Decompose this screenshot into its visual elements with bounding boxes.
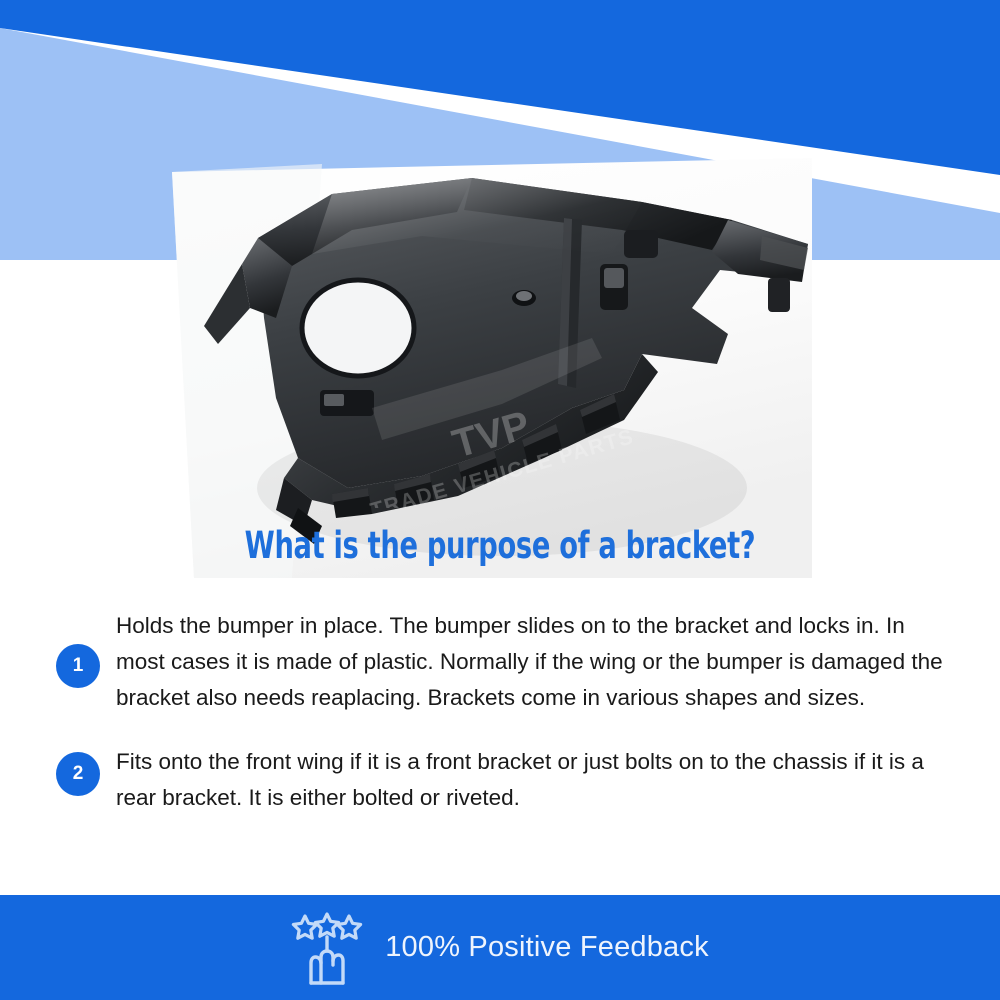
point-text: Holds the bumper in place. The bumper sl… xyxy=(116,606,956,716)
dark-blue-triangle xyxy=(0,0,1000,175)
product-image: TVP TRADE VEHICLE PARTS xyxy=(172,158,812,578)
footer-banner: 100% Positive Feedback xyxy=(0,895,1000,1000)
footer-content: 100% Positive Feedback xyxy=(291,911,709,985)
stars-hand-icon xyxy=(291,911,363,985)
point-number-badge: 2 xyxy=(56,752,100,796)
points-list: 1 Holds the bumper in place. The bumper … xyxy=(56,606,956,842)
page-title: What is the purpose of a bracket? xyxy=(90,524,910,567)
list-item: 1 Holds the bumper in place. The bumper … xyxy=(56,606,956,716)
footer-label: 100% Positive Feedback xyxy=(385,931,709,964)
point-number-badge: 1 xyxy=(56,644,100,688)
poster: TVP TRADE VEHICLE PARTS What is the purp… xyxy=(0,0,1000,1000)
point-text: Fits onto the front wing if it is a fron… xyxy=(116,742,956,816)
list-item: 2 Fits onto the front wing if it is a fr… xyxy=(56,742,956,816)
bracket-photo xyxy=(172,158,812,578)
